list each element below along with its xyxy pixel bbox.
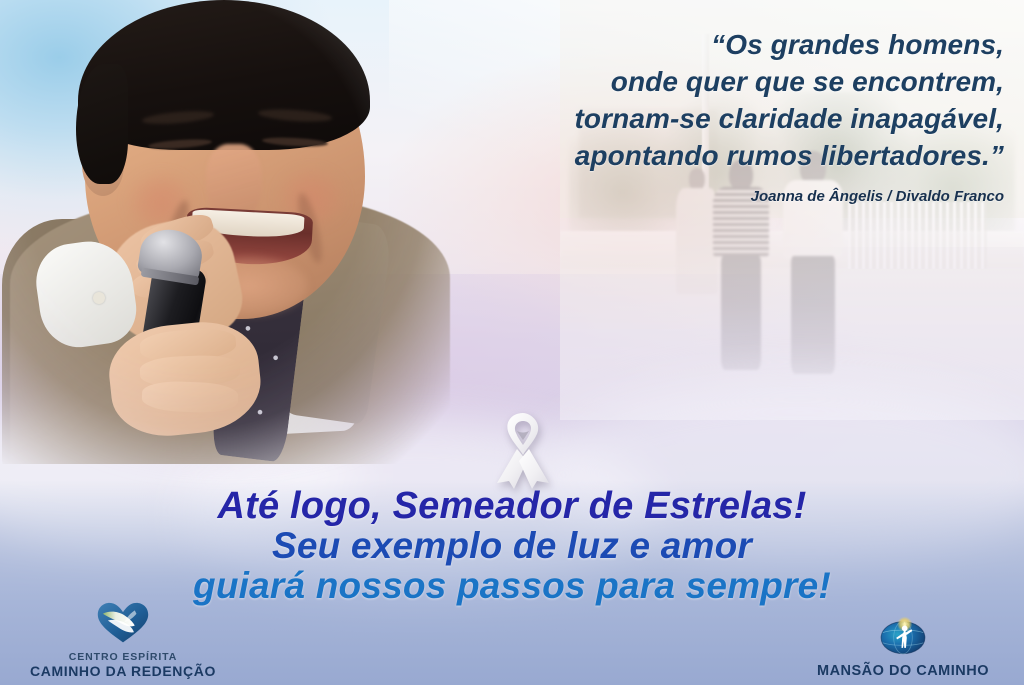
- logo-right-line-1: MANSÃO DO CAMINHO: [788, 663, 1018, 679]
- headline-block: Até logo, Semeador de Estrelas! Seu exem…: [0, 486, 1024, 606]
- logo-centro-espirita: CENTRO ESPÍRITA CAMINHO DA REDENÇÃO: [8, 602, 238, 679]
- quote-line-3: tornam-se claridade inapagável,: [384, 100, 1004, 137]
- logo-left-line-1: CENTRO ESPÍRITA: [8, 651, 238, 663]
- quote-block: “Os grandes homens, onde quer que se enc…: [384, 26, 1004, 205]
- headline-line-2: Seu exemplo de luz e amor: [0, 526, 1024, 566]
- memorial-poster: “Os grandes homens, onde quer que se enc…: [0, 0, 1024, 685]
- logo-mansao-do-caminho: MANSÃO DO CAMINHO: [788, 616, 1018, 679]
- headline-line-3: guiará nossos passos para sempre!: [0, 566, 1024, 606]
- quote-line-4: apontando rumos libertadores.”: [384, 137, 1004, 174]
- quote-attribution: Joanna de Ângelis / Divaldo Franco: [384, 188, 1004, 205]
- heart-hands-icon: [8, 602, 238, 649]
- quote-line-2: onde quer que se encontrem,: [384, 63, 1004, 100]
- quote-line-1: “Os grandes homens,: [384, 26, 1004, 63]
- logo-left-line-2: CAMINHO DA REDENÇÃO: [8, 663, 238, 679]
- mourning-ribbon-icon: [487, 409, 559, 489]
- headline-line-1: Até logo, Semeador de Estrelas!: [0, 486, 1024, 526]
- globe-figure-icon: [788, 616, 1018, 661]
